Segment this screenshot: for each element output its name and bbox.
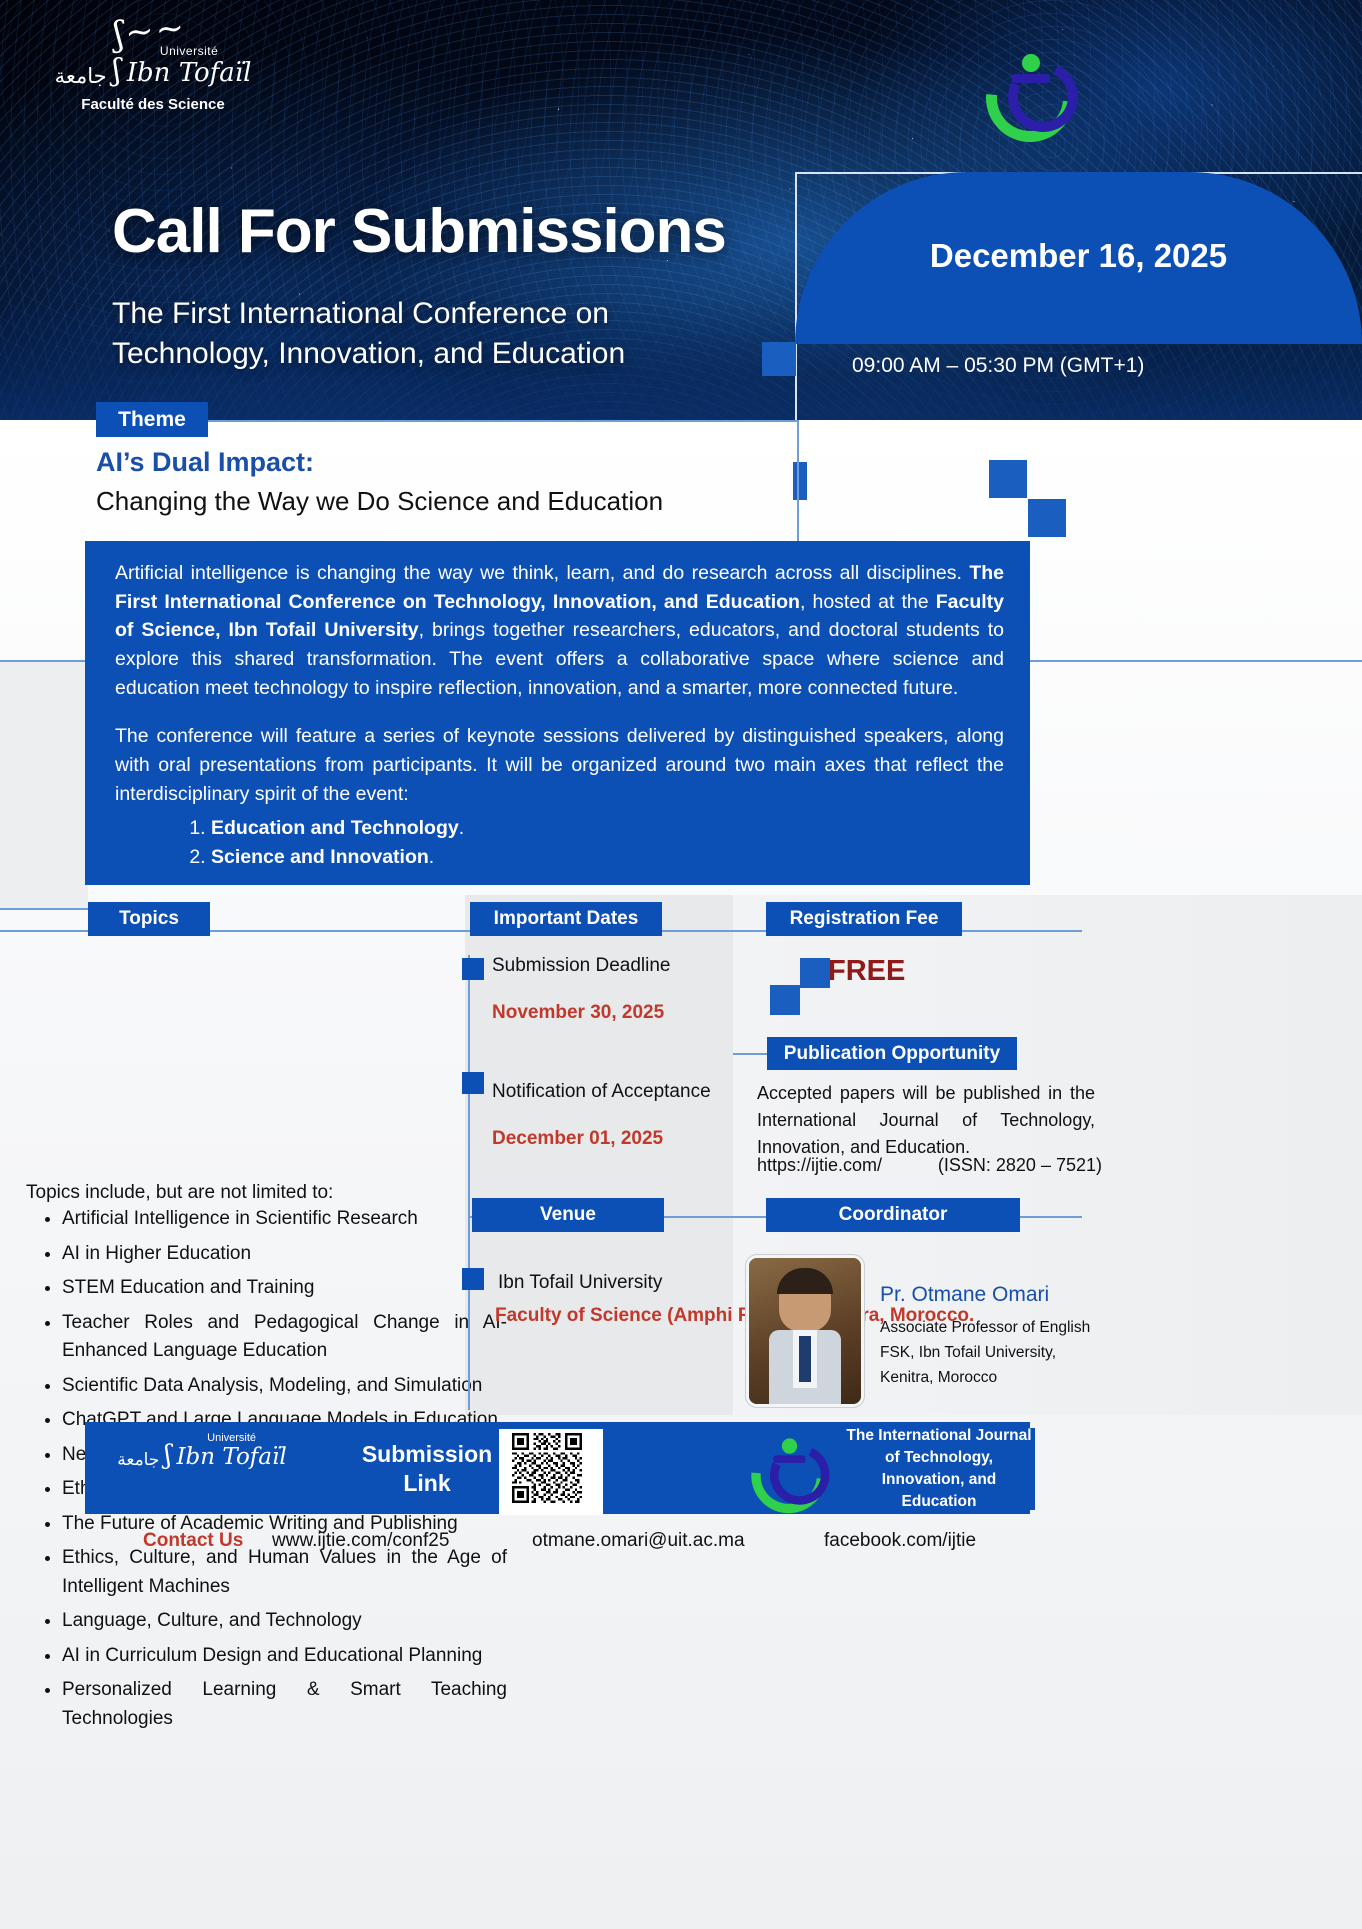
left-grey-band (0, 660, 88, 910)
submission-deadline-label: Submission Deadline (492, 955, 722, 977)
topic-item: Artificial Intelligence in Scientific Re… (62, 1205, 507, 1234)
footer-university-logo: جامعة ʃ Université Ibn Tofaïl (102, 1432, 302, 1470)
coordinator-role: Associate Professor of English FSK, Ibn … (880, 1315, 1100, 1390)
qr-code[interactable] (499, 1429, 603, 1515)
contact-us-label: Contact Us (143, 1530, 243, 1552)
axis-item: Science and Innovation. (211, 843, 1004, 872)
rule-fee-right (962, 930, 1082, 932)
rule-theme (208, 420, 798, 422)
conference-time-value: 09:00 AM – 05:30 PM (GMT+1) (852, 354, 1144, 377)
conference-subtitle: The First International Conference on Te… (112, 294, 732, 373)
topic-item: Language, Culture, and Technology (62, 1607, 507, 1636)
rule-left-1 (0, 660, 88, 662)
page-title: Call For Submissions (112, 196, 726, 267)
chip-venue: Venue (472, 1198, 664, 1232)
conference-date: December 16, 2025 (795, 236, 1362, 277)
logo-faculty-label: Faculté des Science (38, 96, 268, 113)
axis-2-label: Science and Innovation (211, 846, 429, 868)
qr-code-icon (503, 1433, 591, 1503)
axis-2-tail: . (429, 846, 434, 868)
notification-label: Notification of Acceptance (492, 1081, 722, 1103)
intro-block: Artificial intelligence is changing the … (85, 541, 1030, 885)
topic-item: Scientific Data Analysis, Modeling, and … (62, 1372, 507, 1401)
intro-paragraph-2: The conference will feature a series of … (115, 722, 1004, 808)
footer-logo-name: Ibn Tofaïl (176, 1444, 286, 1470)
marker-venue (462, 1268, 484, 1290)
marker-submission-deadline (462, 958, 484, 980)
chip-theme: Theme (96, 402, 208, 437)
journal-logo-icon (986, 48, 1070, 132)
rule-dates-right (662, 930, 766, 932)
coordinator-avatar (749, 1258, 861, 1404)
logo-university-name: Ibn Tofaïl (127, 58, 252, 88)
logo-arabic-text: جامعة (55, 64, 107, 88)
publication-issn: (ISSN: 2820 – 7521) (938, 1155, 1102, 1176)
chip-coordinator: Coordinator (766, 1198, 1020, 1232)
rule-topics-right (210, 930, 470, 932)
topic-item: STEM Education and Training (62, 1274, 507, 1303)
topic-item: Personalized Learning & Smart Teaching T… (62, 1676, 507, 1733)
axis-1-label: Education and Technology (211, 817, 459, 839)
vertical-rule-topics (468, 955, 470, 1410)
conference-time: 09:00 AM – 05:30 PM (GMT+1) (852, 352, 1144, 380)
topic-item: AI in Curriculum Design and Educational … (62, 1642, 507, 1671)
contact-email[interactable]: otmane.omari@uit.ac.ma (532, 1530, 745, 1552)
chip-publication-opportunity: Publication Opportunity (767, 1037, 1017, 1070)
intro-p1-c: , hosted at the (800, 591, 936, 613)
contact-facebook[interactable]: facebook.com/ijtie (824, 1530, 976, 1552)
university-logo: ʃ~~ جامعة ʃ Université Ibn Tofaïl Facult… (38, 14, 268, 113)
rule-right-1 (1030, 660, 1362, 662)
submission-link-label: Submission Link (352, 1440, 502, 1498)
contact-row: Contact Us www.ijtie.com/conf25 otmane.o… (0, 1530, 1362, 1570)
theme-subline: Changing the Way we Do Science and Educa… (96, 486, 663, 517)
publication-text: Accepted papers will be published in the… (757, 1080, 1095, 1161)
venue-line-1: Ibn Tofail University (498, 1272, 662, 1294)
registration-fee-value: FREE (828, 955, 905, 988)
intro-p1-a: Artificial intelligence is changing the … (115, 562, 969, 584)
notification-value: December 01, 2025 (492, 1128, 722, 1150)
rule-publication-left (733, 1053, 767, 1055)
chip-topics: Topics (88, 902, 210, 936)
journal-footer-block: The International Journal of Technology,… (745, 1428, 1035, 1510)
topic-item: Teacher Roles and Pedagogical Change in … (62, 1309, 507, 1366)
footer-logo-arabic: جامعة (117, 1450, 159, 1470)
decor-square-1 (989, 460, 1027, 498)
topic-item: AI in Higher Education (62, 1240, 507, 1269)
rule-venue-right (664, 1216, 766, 1218)
rule-left-2 (0, 908, 88, 910)
decor-bar-1 (793, 462, 807, 500)
rule-topics-left (0, 930, 88, 932)
conference-axes-list: Education and Technology. Science and In… (115, 814, 1004, 871)
publication-issn-row: https://ijtie.com/ (ISSN: 2820 – 7521) (757, 1155, 1102, 1176)
coordinator-name: Pr. Otmane Omari (880, 1283, 1049, 1307)
journal-name: The International Journal of Technology,… (843, 1425, 1035, 1513)
axis-item: Education and Technology. (211, 814, 1004, 843)
chip-important-dates: Important Dates (470, 902, 662, 936)
intro-paragraph-1: Artificial intelligence is changing the … (115, 559, 1004, 702)
journal-logo-icon-footer (751, 1433, 822, 1504)
submission-deadline-value: November 30, 2025 (492, 1002, 722, 1024)
vertical-rule-hero (797, 420, 799, 550)
theme-headline: AI’s Dual Impact: (96, 447, 314, 478)
marker-notification (462, 1072, 484, 1094)
decor-square-fee-2 (800, 958, 830, 988)
footer-logo-universite: Université (176, 1432, 286, 1444)
contact-website[interactable]: www.ijtie.com/conf25 (272, 1530, 449, 1552)
axis-1-tail: . (459, 817, 464, 839)
publication-url[interactable]: https://ijtie.com/ (757, 1155, 882, 1176)
rule-coordinator-right (1020, 1216, 1082, 1218)
topics-intro-text: Topics include, but are not limited to: (26, 1182, 333, 1204)
important-dates-content: Submission Deadline November 30, 2025 No… (492, 955, 722, 1150)
chip-registration-fee: Registration Fee (766, 902, 962, 936)
decor-square-fee-1 (770, 985, 800, 1015)
accent-square-hero (762, 342, 796, 376)
decor-square-2 (1028, 499, 1066, 537)
